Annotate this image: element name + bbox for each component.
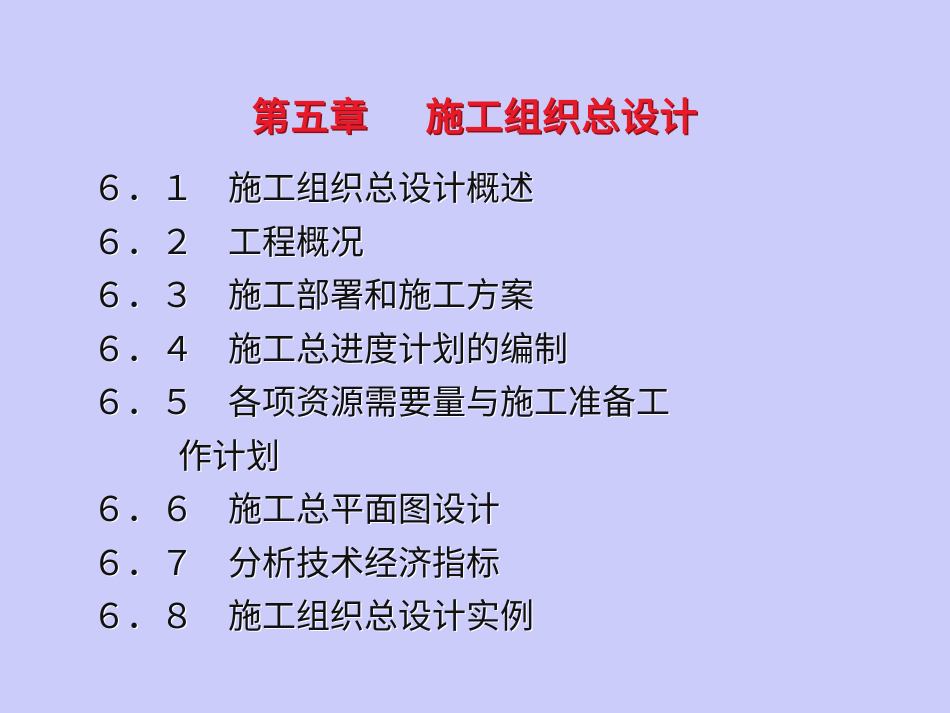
outline-list: ６．１ 施工组织总设计概述 ６．２ 工程概况 ６．３ 施工部署和施工方案 ６．４…: [92, 163, 932, 645]
outline-item-6-3: ６．３ 施工部署和施工方案: [92, 270, 932, 324]
outline-item-6-6: ６．６ 施工总平面图设计: [92, 484, 932, 538]
presentation-slide: 第五章 施工组织总设计 ６．１ 施工组织总设计概述 ６．２ 工程概况 ６．３ 施…: [0, 0, 950, 713]
outline-item-6-5-continuation: 作计划: [92, 431, 932, 485]
outline-item-6-4: ６．４ 施工总进度计划的编制: [92, 324, 932, 378]
outline-item-6-8: ６．８ 施工组织总设计实例: [92, 591, 932, 645]
slide-title: 第五章 施工组织总设计: [0, 94, 950, 140]
outline-item-6-2: ６．２ 工程概况: [92, 217, 932, 271]
outline-item-6-1: ６．１ 施工组织总设计概述: [92, 163, 932, 217]
outline-item-6-5: ６．５ 各项资源需要量与施工准备工: [92, 377, 932, 431]
outline-item-6-7: ６．７ 分析技术经济指标: [92, 538, 932, 592]
